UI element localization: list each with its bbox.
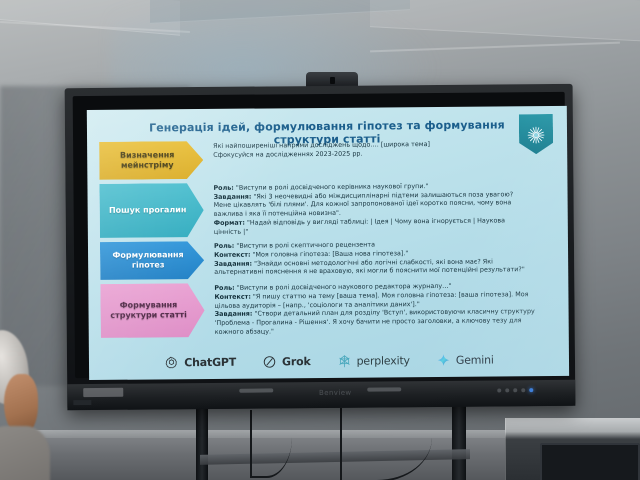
slide-rows: Визначення мейнстрімуЯкі найпоширеніші н…: [99, 138, 559, 342]
prompt-field-value: Які найпоширеніші напрями досліджень щод…: [213, 140, 430, 150]
stage-label-chevron: Формулювання гіпотез: [100, 241, 204, 280]
display-indicator-leds: [497, 387, 553, 393]
prompt-text-line: Сфокусуйся на дослідженнях 2023-2025 рр.: [213, 148, 553, 160]
stage-label-chevron: Пошук прогалин: [99, 183, 203, 238]
room-scene: Генерація ідей, формулювання гіпотез та …: [0, 0, 640, 480]
camera-lens-icon: [330, 77, 335, 84]
ai-tools-logo-bar: ChatGPTGrokperplexityGemini: [89, 346, 569, 376]
prompt-field-label: Контекст:: [214, 251, 251, 259]
side-monitor: [540, 443, 640, 480]
stage-label-text: Формування структури статті: [104, 300, 192, 321]
openai-icon: [164, 355, 179, 370]
prompt-text-line: альтернативні пояснення я не враховую, я…: [214, 265, 554, 277]
audience-member: [0, 330, 52, 480]
stage-label-text: Визначення мейнстріму: [103, 150, 191, 171]
prompt-text-line: кожного абзацу.": [215, 325, 555, 337]
display-brand-label: Benview: [305, 389, 365, 402]
prompt-text-block: Роль: "Виступи в ролі досвідченого науко…: [204, 280, 558, 337]
presentation-slide: Генерація ідей, формулювання гіпотез та …: [87, 106, 569, 380]
ai-tool-name: Grok: [282, 355, 311, 368]
ai-tool-name: Gemini: [456, 353, 494, 366]
wall-display[interactable]: Генерація ідей, формулювання гіпотез та …: [65, 84, 576, 410]
gemini-icon: [436, 352, 451, 367]
prompt-field-label: Роль:: [214, 284, 234, 292]
prompt-field-value: альтернативні пояснення я не враховую, я…: [214, 266, 525, 277]
stage-label-text: Формулювання гіпотез: [104, 250, 192, 271]
prompt-field-value: кожного абзацу.": [215, 327, 274, 336]
stage-label-chevron: Визначення мейнстріму: [99, 141, 203, 180]
ai-tool-logo: Grok: [262, 354, 311, 369]
display-port: [73, 400, 91, 405]
slide-row: Пошук прогалинРоль: "Виступи в ролі досв…: [99, 180, 557, 238]
prompt-field-label: Роль:: [214, 242, 234, 250]
prompt-text-block: Які найпоширеніші напрями досліджень щод…: [203, 138, 557, 179]
slide-row: Визначення мейнстрімуЯкі найпоширеніші н…: [99, 138, 557, 180]
display-sticker: [83, 388, 123, 397]
ai-tool-name: ChatGPT: [184, 355, 236, 368]
prompt-field-label: Завдання:: [215, 310, 253, 318]
prompt-field-value: "Я пишу статтю на тему [ваша тема]. Моя …: [251, 290, 529, 300]
prompt-text-block: Роль: "Виступи в ролі досвідченого керів…: [203, 180, 557, 237]
stage-label-chevron: Формування структури статті: [100, 283, 204, 338]
speaker-grille: [239, 388, 273, 392]
prompt-field-value: цінність |": [214, 227, 248, 235]
prompt-field-value: 'Проблема - Прогалина - Рішення'. Я хочу…: [215, 316, 522, 327]
prompt-field-value: Сфокусуйся на дослідженнях 2023-2025 рр.: [213, 149, 362, 158]
stage-label-text: Пошук прогалин: [109, 205, 187, 216]
slide-row: Формулювання гіпотезРоль: "Виступи в рол…: [100, 238, 558, 280]
ai-tool-name: perplexity: [356, 354, 409, 367]
perplexity-icon: [336, 353, 351, 368]
ai-tool-logo: Gemini: [436, 352, 494, 368]
prompt-field-label: Завдання:: [214, 192, 252, 200]
slide-row: Формування структури статтіРоль: "Виступ…: [100, 280, 558, 338]
prompt-field-label: Завдання:: [214, 259, 252, 267]
person-body: [0, 426, 50, 480]
prompt-field-value: важлива і яка її потенційна новизна".: [214, 209, 341, 218]
display-stand-pole: [196, 405, 208, 480]
ai-tool-logo: ChatGPT: [164, 354, 236, 370]
prompt-field-label: Формат:: [214, 218, 245, 226]
prompt-field-value: "Надай відповідь у вигляді таблиці: | Ід…: [245, 216, 505, 226]
prompt-text-block: Роль: "Виступи в ролі скептичного реценз…: [204, 238, 558, 279]
ai-tool-logo: perplexity: [336, 353, 409, 369]
prompt-field-label: Роль:: [213, 184, 233, 192]
display-stand-pole: [452, 405, 466, 480]
prompt-field-label: Контекст:: [214, 293, 251, 301]
display-bezel: Генерація ідей, формулювання гіпотез та …: [73, 92, 567, 378]
prompt-field-value: "Виступи в ролі скептичного рецензента: [234, 241, 375, 250]
speaker-grille: [367, 387, 401, 391]
grok-icon: [262, 354, 277, 369]
